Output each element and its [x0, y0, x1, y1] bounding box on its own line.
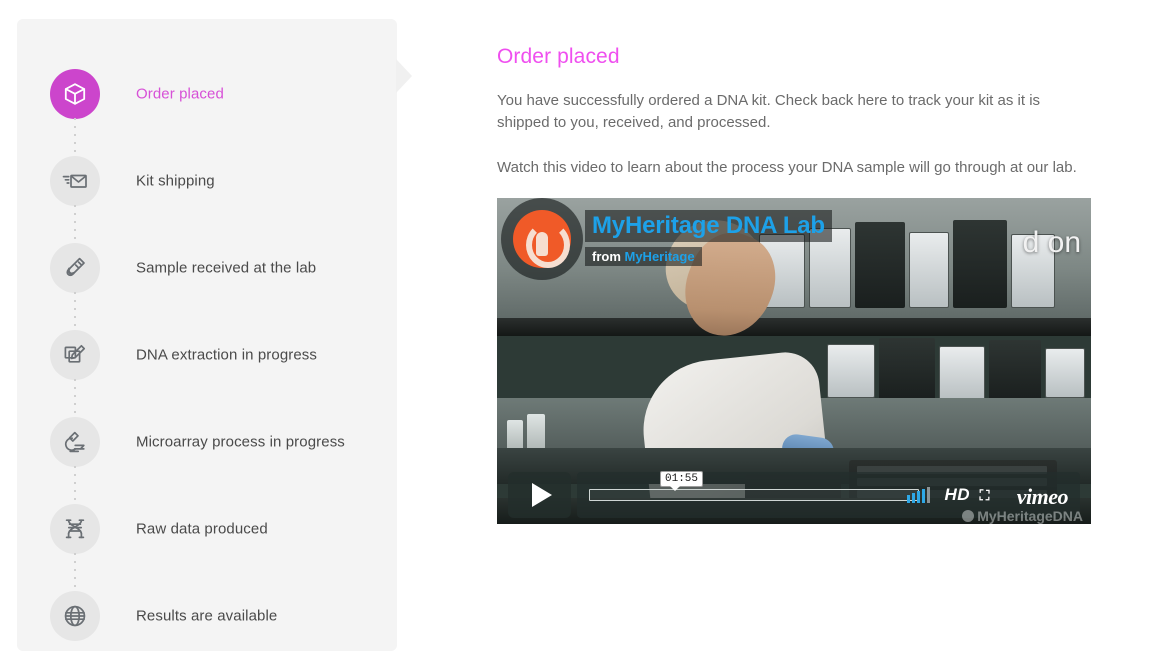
test-tube-icon [50, 243, 100, 293]
video-author-prefix: from [592, 249, 625, 264]
video-author: from MyHeritage [585, 247, 702, 266]
box-icon [50, 69, 100, 119]
progress-stepper-panel: Order placed Kit shipping [17, 19, 397, 651]
scene-signage-text: d on [1023, 226, 1081, 260]
video-prompt-paragraph: Watch this video to learn about the proc… [497, 157, 1093, 179]
watermark-label: MyHeritageDNA [977, 508, 1083, 524]
volume-control[interactable] [907, 487, 930, 503]
step-label: Order placed [136, 85, 224, 102]
hd-toggle[interactable]: HD [944, 485, 970, 505]
myheritagedna-watermark: MyHeritageDNA [962, 508, 1083, 524]
duration-tooltip: 01:55 [660, 471, 703, 487]
step-label: Raw data produced [136, 520, 268, 537]
step-label: Sample received at the lab [136, 259, 316, 276]
video-title: MyHeritage DNA Lab [585, 210, 832, 242]
step-item-raw-data[interactable]: Raw data produced [17, 485, 397, 572]
envelope-shipping-icon [50, 156, 100, 206]
step-label: Results are available [136, 607, 277, 624]
step-item-microarray[interactable]: Microarray process in progress [17, 398, 397, 485]
step-item-order-placed[interactable]: Order placed [17, 50, 397, 137]
step-label: Microarray process in progress [136, 433, 345, 450]
progress-scrubber[interactable]: 01:55 [589, 489, 919, 501]
watermark-dot-icon [962, 510, 974, 522]
video-player[interactable]: MyHeritage DNA Lab from MyHeritage d on … [497, 198, 1091, 524]
video-author-brand: MyHeritage [625, 249, 695, 264]
step-label: Kit shipping [136, 172, 215, 189]
dna-helix-icon [50, 504, 100, 554]
play-icon [532, 483, 552, 507]
step-item-results-available[interactable]: Results are available [17, 572, 397, 659]
fullscreen-icon[interactable]: ⛶ [977, 488, 992, 503]
order-tracking-page: Order placed Kit shipping [0, 0, 1165, 669]
step-label: DNA extraction in progress [136, 346, 317, 363]
video-title-overlay: MyHeritage DNA Lab from MyHeritage [513, 210, 832, 268]
active-step-pointer [396, 59, 412, 93]
myheritage-logo-icon [513, 210, 571, 268]
step-item-sample-received[interactable]: Sample received at the lab [17, 224, 397, 311]
play-button[interactable] [508, 472, 571, 518]
documents-pencil-icon [50, 330, 100, 380]
step-item-dna-extraction[interactable]: DNA extraction in progress [17, 311, 397, 398]
microscope-icon [50, 417, 100, 467]
intro-paragraph: You have successfully ordered a DNA kit.… [497, 90, 1093, 134]
globe-icon [50, 591, 100, 641]
page-title: Order placed [497, 45, 620, 69]
step-item-kit-shipping[interactable]: Kit shipping [17, 137, 397, 224]
vimeo-logo[interactable]: vimeo [1017, 484, 1068, 510]
